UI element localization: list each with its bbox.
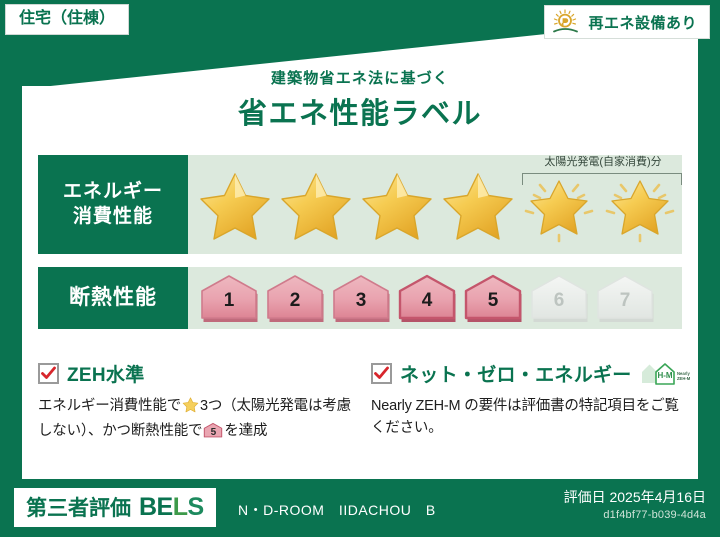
insulation-performance-row: 断熱性能 1 bbox=[38, 267, 682, 329]
bels-jp-label: 第三者評価 bbox=[26, 492, 131, 522]
inline-star-icon bbox=[182, 401, 199, 417]
claim-zeh-title: ZEH水準 bbox=[67, 360, 145, 387]
star-icon-solar bbox=[520, 167, 598, 243]
insulation-level-scale: 1 2 3 bbox=[188, 273, 656, 323]
checkbox-checked-icon bbox=[38, 363, 59, 384]
bels-letter-l: L bbox=[173, 493, 188, 521]
star-icon bbox=[196, 167, 274, 243]
renewable-badge-label: 再エネ設備あり bbox=[588, 12, 697, 33]
building-name: N・D-ROOM IIDACHOU B bbox=[238, 500, 436, 520]
insulation-level-number: 1 bbox=[198, 290, 260, 312]
energy-label-line1: エネルギー bbox=[63, 180, 163, 205]
evaluation-date: 評価日 2025年4月16日 bbox=[564, 487, 706, 507]
checkbox-checked-icon bbox=[371, 363, 392, 384]
energy-stars-area: 太陽光発電(自家消費)分 bbox=[188, 155, 682, 254]
insulation-level-badge: 3 bbox=[330, 273, 392, 323]
footer-bar: 第三者評価 BELS N・D-ROOM IIDACHOU B 評価日 2025年… bbox=[0, 479, 720, 537]
insulation-level-badge: 2 bbox=[264, 273, 326, 323]
bels-letters-be: BE bbox=[139, 493, 173, 521]
insulation-level-number: 6 bbox=[528, 290, 590, 312]
star-icon bbox=[277, 167, 355, 243]
label-title: 省エネ性能ラベル bbox=[0, 90, 720, 132]
energy-performance-row: エネルギー 消費性能 太陽光発電(自家消費)分 bbox=[38, 155, 682, 254]
insulation-level-badge: 4 bbox=[396, 273, 458, 323]
insulation-level-number: 4 bbox=[396, 290, 458, 312]
claim-nze-header: ネット・ゼロ・エネルギー H-M Nearly ZEH-M bbox=[371, 360, 686, 387]
insulation-performance-label: 断熱性能 bbox=[38, 267, 188, 329]
insulation-level-number: 2 bbox=[264, 290, 326, 312]
renewable-equipment-badge: 再エネ設備あり bbox=[544, 5, 710, 39]
insulation-level-badge: 6 bbox=[528, 273, 590, 323]
star-rating bbox=[188, 167, 679, 243]
insulation-levels-area: 1 2 3 bbox=[188, 267, 682, 329]
star-icon bbox=[358, 167, 436, 243]
insulation-level-badge: 7 bbox=[594, 273, 656, 323]
zeh-desc-part1: エネルギー消費性能で bbox=[38, 398, 181, 414]
evaluation-id: d1f4bf77-b039-4d4a bbox=[603, 509, 706, 521]
star-icon bbox=[439, 167, 517, 243]
svg-text:H-M: H-M bbox=[657, 371, 672, 380]
bels-en-label: BELS bbox=[139, 493, 204, 522]
zeh-m-logo-icon: H-M Nearly ZEH-M bbox=[640, 361, 696, 387]
insulation-level-badge: 1 bbox=[198, 273, 260, 323]
claim-nze-description: Nearly ZEH-M の要件は評価書の特記項目をご覧ください。 bbox=[371, 395, 686, 440]
insulation-level-number: 7 bbox=[594, 290, 656, 312]
zeh-desc-part3: を達成 bbox=[224, 423, 267, 439]
solar-sun-icon bbox=[551, 9, 581, 35]
claims-section: ZEH水準 エネルギー消費性能で3つ（太陽光発電は考慮しない）、かつ断熱性能で5… bbox=[38, 360, 686, 447]
claim-net-zero-energy: ネット・ゼロ・エネルギー H-M Nearly ZEH-M Nearly ZEH… bbox=[371, 360, 686, 447]
insulation-level-badge: 5 bbox=[462, 273, 524, 323]
energy-label-card: 住宅（住棟） 再エネ設備 bbox=[0, 0, 720, 537]
insulation-level-number: 5 bbox=[462, 290, 524, 312]
insulation-level-number: 3 bbox=[330, 290, 392, 312]
dwelling-type-tag: 住宅（住棟） bbox=[5, 4, 129, 35]
star-icon-solar bbox=[601, 167, 679, 243]
bels-certification-badge: 第三者評価 BELS bbox=[14, 488, 216, 527]
bels-letter-s: S bbox=[188, 493, 204, 521]
energy-label-line2: 消費性能 bbox=[73, 205, 153, 230]
claim-zeh-header: ZEH水準 bbox=[38, 360, 353, 387]
zeh-desc-star-text: 3つ（太陽光発電 bbox=[200, 398, 308, 414]
claim-zeh-standard: ZEH水準 エネルギー消費性能で3つ（太陽光発電は考慮しない）、かつ断熱性能で5… bbox=[38, 360, 353, 447]
energy-performance-label: エネルギー 消費性能 bbox=[38, 155, 188, 254]
svg-text:ZEH-M: ZEH-M bbox=[677, 376, 691, 381]
label-subtitle: 建築物省エネ法に基づく bbox=[0, 67, 720, 88]
claim-nze-title: ネット・ゼロ・エネルギー bbox=[400, 360, 632, 387]
inline-insulation-badge-icon: 5 bbox=[203, 422, 223, 446]
inline-insulation-number: 5 bbox=[203, 425, 223, 441]
claim-zeh-description: エネルギー消費性能で3つ（太陽光発電は考慮しない）、かつ断熱性能で5を達成 bbox=[38, 395, 353, 447]
